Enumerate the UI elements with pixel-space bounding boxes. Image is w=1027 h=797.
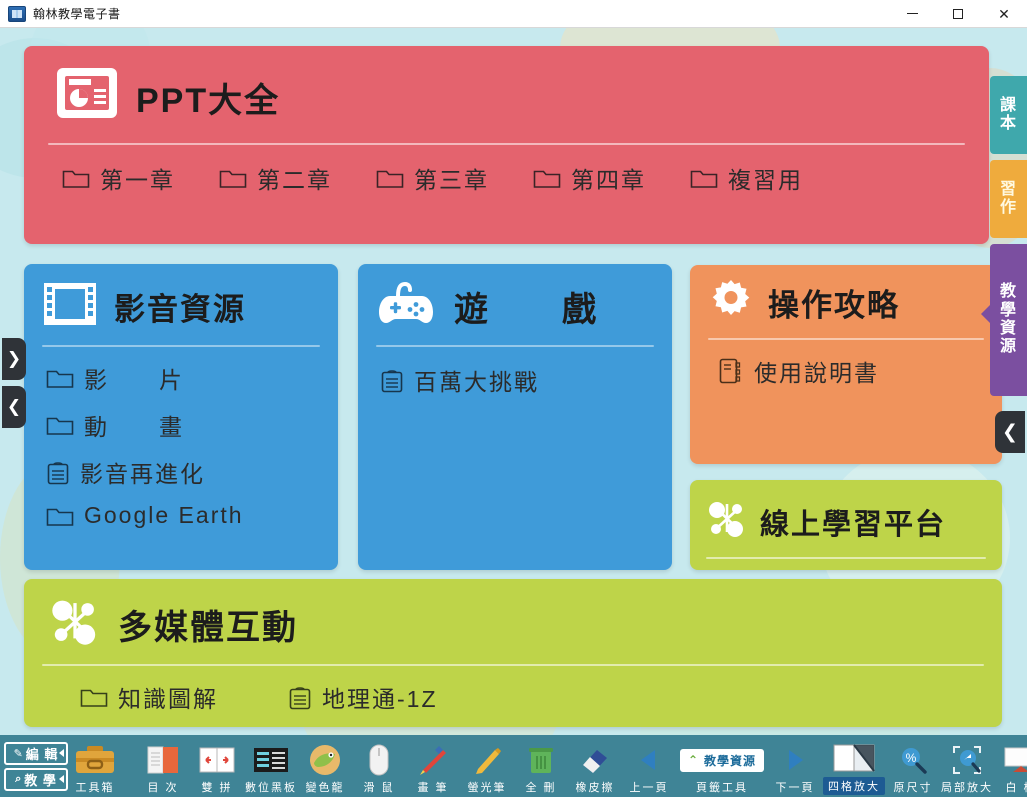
- folder-icon: [219, 167, 247, 189]
- card-game-items: 百萬大挑戰: [358, 347, 672, 397]
- window-title: 翰林教學電子書: [33, 5, 121, 22]
- toolbar-button-whiteboard-label: 白 板: [1005, 779, 1027, 795]
- filmstrip-icon: [42, 278, 98, 335]
- mouse-icon: [368, 743, 390, 777]
- contents-icon: [146, 743, 180, 777]
- list-item[interactable]: 第一章: [62, 161, 175, 195]
- list-item-label: 動 畫: [84, 408, 184, 442]
- card-guide-items: 使用說明書: [690, 340, 1002, 388]
- pointer-icon: ⌕: [15, 773, 22, 786]
- toolbar-button-next-page[interactable]: 下一頁: [768, 737, 822, 795]
- card-multimedia-interactive[interactable]: 多媒體互動 知識圖解: [24, 579, 1002, 727]
- chevron-left-icon: ❮: [7, 397, 21, 417]
- pen-icon: [417, 743, 449, 777]
- gamepad-icon: [376, 278, 438, 335]
- divider: [706, 557, 986, 559]
- toolbar-button-tab-tool-label: 頁籤工具: [696, 779, 748, 795]
- list-item[interactable]: 影音再進化: [46, 455, 338, 489]
- toolbar-button-dual-page-label: 雙 拼: [201, 779, 232, 795]
- card-game-header: 遊 戲: [358, 264, 672, 335]
- toolbar-button-delete-all-label: 全 刪: [525, 779, 556, 795]
- list-item[interactable]: Google Earth: [46, 502, 338, 529]
- tab-tool-pill-label: 教學資源: [704, 752, 756, 769]
- dual-page-icon: [199, 743, 235, 777]
- list-item-label: 知識圖解: [118, 680, 218, 714]
- card-media-title: 影音資源: [114, 284, 246, 329]
- list-item-label: 使用說明書: [754, 354, 879, 388]
- toolbar-button-digital-blackboard-label: 數位黑板: [245, 779, 297, 795]
- card-media-items: 影 片 動 畫: [24, 347, 338, 542]
- toolbar-button-chameleon-label: 變色龍: [306, 779, 345, 795]
- page-sheet: PPT大全 第一章 第二章: [0, 28, 1027, 735]
- folder-icon: [533, 167, 561, 189]
- presentation-icon: [54, 64, 120, 131]
- toolbar-button-prev-page[interactable]: 上一頁: [622, 737, 676, 795]
- card-guide-header: 操作攻略: [690, 265, 1002, 328]
- folder-icon: [62, 167, 90, 189]
- actual-size-icon: %: [898, 743, 928, 777]
- side-tab-textbook[interactable]: 課 本: [990, 76, 1027, 154]
- list-item-label: Google Earth: [84, 502, 244, 529]
- toolbar-button-pen-label: 畫 筆: [417, 779, 448, 795]
- list-item[interactable]: 動 畫: [46, 408, 338, 442]
- page-next-arrow-button[interactable]: ❯: [2, 338, 26, 380]
- list-item-label: 第三章: [414, 161, 489, 195]
- card-media-resources[interactable]: 影音資源 影 片 動 畫: [24, 264, 338, 570]
- whiteboard-icon: [1003, 743, 1027, 777]
- window-controls: ✕: [889, 0, 1027, 28]
- side-tab-workbook-char-2: 作: [1000, 199, 1017, 217]
- prev-page-icon: [636, 743, 662, 777]
- side-tab-textbook-char-2: 本: [1000, 115, 1017, 133]
- page-canvas: PPT大全 第一章 第二章: [0, 28, 1027, 735]
- toolbar-button-eraser-label: 橡皮擦: [576, 779, 615, 795]
- list-item[interactable]: 百萬大挑戰: [380, 363, 672, 397]
- list-item-label: 第四章: [571, 161, 646, 195]
- side-tab-resource-char-2: 學: [1000, 302, 1017, 320]
- card-online-platform[interactable]: 線上學習平台: [690, 480, 1002, 570]
- clipboard-icon: [46, 460, 70, 485]
- blackboard-icon: [253, 743, 289, 777]
- toolbar-button-eraser[interactable]: 橡皮擦: [568, 737, 622, 795]
- toolbox-icon: [74, 743, 116, 777]
- toolbar-button-chameleon[interactable]: 變色龍: [298, 737, 352, 795]
- chevron-right-icon: ❯: [7, 349, 21, 369]
- toolbar-button-delete-all[interactable]: 全 刪: [514, 737, 568, 795]
- toolbar-button-prev-page-label: 上一頁: [630, 779, 669, 795]
- card-media-header: 影音資源: [24, 264, 338, 335]
- card-game-title: 遊 戲: [454, 282, 598, 331]
- clipboard-icon: [380, 368, 404, 393]
- card-multimedia-title: 多媒體互動: [118, 600, 298, 649]
- toolbar-button-actual-size-label: 原尺寸: [894, 779, 933, 795]
- bottom-toolbar: ✎ 編 輯 ⌕ 教 學: [0, 735, 1027, 797]
- toolbar-button-pen[interactable]: 畫 筆: [406, 737, 460, 795]
- card-multimedia-header: 多媒體互動: [24, 579, 1002, 656]
- card-online-title: 線上學習平台: [760, 501, 946, 543]
- mode-button-edit[interactable]: ✎ 編 輯: [4, 742, 68, 765]
- network-icon: [46, 593, 104, 656]
- side-tab-workbook-char-1: 習: [1000, 181, 1017, 199]
- card-game[interactable]: 遊 戲 百萬: [358, 264, 672, 570]
- side-tab-resource-char-3: 資: [1000, 320, 1017, 338]
- list-item[interactable]: 第四章: [533, 161, 646, 195]
- list-item-label: 百萬大挑戰: [414, 363, 539, 397]
- folder-icon: [80, 686, 108, 708]
- side-tab-workbook[interactable]: 習 作: [990, 160, 1027, 238]
- card-ppt[interactable]: PPT大全 第一章 第二章: [24, 46, 989, 244]
- toolbar-button-actual-size[interactable]: % 原尺寸: [886, 737, 940, 795]
- trash-icon: [528, 743, 554, 777]
- maximize-button[interactable]: [935, 0, 981, 28]
- toolbar-button-toolbox[interactable]: 工具箱: [68, 737, 122, 795]
- mode-switch-group: ✎ 編 輯 ⌕ 教 學: [0, 735, 68, 797]
- list-item[interactable]: 複習用: [690, 161, 803, 195]
- list-item[interactable]: 影 片: [46, 361, 338, 395]
- list-item-label: 第一章: [100, 161, 175, 195]
- pencil-icon: ✎: [14, 747, 24, 760]
- minimize-button[interactable]: [889, 0, 935, 28]
- close-button[interactable]: ✕: [981, 0, 1027, 28]
- list-item[interactable]: 使用說明書: [718, 354, 1002, 388]
- gear-icon: [708, 277, 754, 328]
- folder-icon: [46, 414, 74, 436]
- book-app-icon: [8, 6, 26, 22]
- side-tab-textbook-char-1: 課: [1000, 97, 1017, 115]
- toolbar-button-toolbox-label: 工具箱: [76, 779, 115, 795]
- mode-button-edit-label: 編 輯: [26, 744, 59, 763]
- toolbar-button-mouse[interactable]: 滑 鼠: [352, 737, 406, 795]
- card-operation-guide[interactable]: 操作攻略: [690, 265, 1002, 464]
- toolbar-button-whiteboard[interactable]: 白 板: [994, 737, 1027, 795]
- side-tab-teaching-resource[interactable]: 教 學 資 源: [990, 244, 1027, 396]
- toolbar-button-mouse-label: 滑 鼠: [363, 779, 394, 795]
- side-tabs: 課 本 習 作 教 學 資 源 ❮: [990, 56, 1027, 735]
- list-item-label: 地理通-1Z: [322, 680, 438, 714]
- chameleon-icon: [309, 743, 341, 777]
- chevron-up-icon: ⌃: [688, 753, 699, 767]
- folder-icon: [46, 505, 74, 527]
- toolbar-button-digital-blackboard[interactable]: 數位黑板: [244, 737, 298, 795]
- eraser-icon: [579, 743, 611, 777]
- card-ppt-header: PPT大全: [24, 46, 989, 131]
- toolbar-button-highlighter-label: 螢光筆: [468, 779, 507, 795]
- list-item-label: 複習用: [728, 161, 803, 195]
- card-online-header: 線上學習平台: [690, 480, 1002, 547]
- toolbar-button-quad-zoom[interactable]: 四格放大: [822, 737, 886, 795]
- list-item[interactable]: 知識圖解: [80, 680, 218, 714]
- list-item-label: 影音再進化: [80, 455, 205, 489]
- manual-book-icon: [718, 357, 742, 385]
- list-item[interactable]: 地理通-1Z: [288, 680, 438, 714]
- toolbar-items: 工具箱 目 次: [68, 735, 1027, 797]
- side-tab-resource-char-1: 教: [1000, 283, 1017, 301]
- list-item-label: 第二章: [257, 161, 332, 195]
- toolbar-button-contents[interactable]: 目 次: [136, 737, 190, 795]
- network-icon: [704, 496, 750, 547]
- mode-button-teach-label: 教 學: [24, 770, 57, 789]
- toolbar-button-tab-tool[interactable]: ⌃ 教學資源 頁籤工具: [676, 737, 768, 795]
- application-window: 翰林教學電子書 ✕: [0, 0, 1027, 797]
- folder-icon: [376, 167, 404, 189]
- svg-text:%: %: [906, 751, 917, 765]
- card-ppt-items: 第一章 第二章 第三章: [24, 145, 989, 195]
- toolbar-button-contents-label: 目 次: [147, 779, 178, 795]
- card-guide-title: 操作攻略: [768, 280, 900, 325]
- chevron-left-icon: ❮: [1002, 421, 1018, 444]
- clipboard-icon: [288, 685, 312, 710]
- quad-zoom-icon: [832, 741, 876, 775]
- card-ppt-title: PPT大全: [136, 73, 280, 122]
- toolbar-button-next-page-label: 下一頁: [776, 779, 815, 795]
- page-prev-arrow-button[interactable]: ❮: [2, 386, 26, 428]
- mode-button-teach[interactable]: ⌕ 教 學: [4, 768, 68, 791]
- tab-tool-pill[interactable]: ⌃ 教學資源: [680, 749, 764, 772]
- toolbar-button-region-zoom-label: 局部放大: [941, 779, 993, 795]
- next-page-icon: [782, 743, 808, 777]
- list-item[interactable]: 第三章: [376, 161, 489, 195]
- toolbar-button-dual-page[interactable]: 雙 拼: [190, 737, 244, 795]
- toolbar-button-quad-zoom-label: 四格放大: [823, 777, 885, 795]
- title-bar: 翰林教學電子書 ✕: [0, 0, 1027, 28]
- side-panel-collapse-button[interactable]: ❮: [995, 411, 1025, 453]
- card-multimedia-items: 知識圖解 地理通-1Z: [24, 666, 1002, 714]
- list-item-label: 影 片: [84, 361, 184, 395]
- tab-tool-icon: ⌃ 教學資源: [680, 743, 764, 777]
- folder-icon: [46, 367, 74, 389]
- highlighter-icon: [471, 743, 503, 777]
- region-zoom-icon: [952, 743, 982, 777]
- folder-icon: [690, 167, 718, 189]
- side-tab-resource-char-4: 源: [1000, 338, 1017, 356]
- toolbar-button-region-zoom[interactable]: 局部放大: [940, 737, 994, 795]
- list-item[interactable]: 第二章: [219, 161, 332, 195]
- toolbar-button-highlighter[interactable]: 螢光筆: [460, 737, 514, 795]
